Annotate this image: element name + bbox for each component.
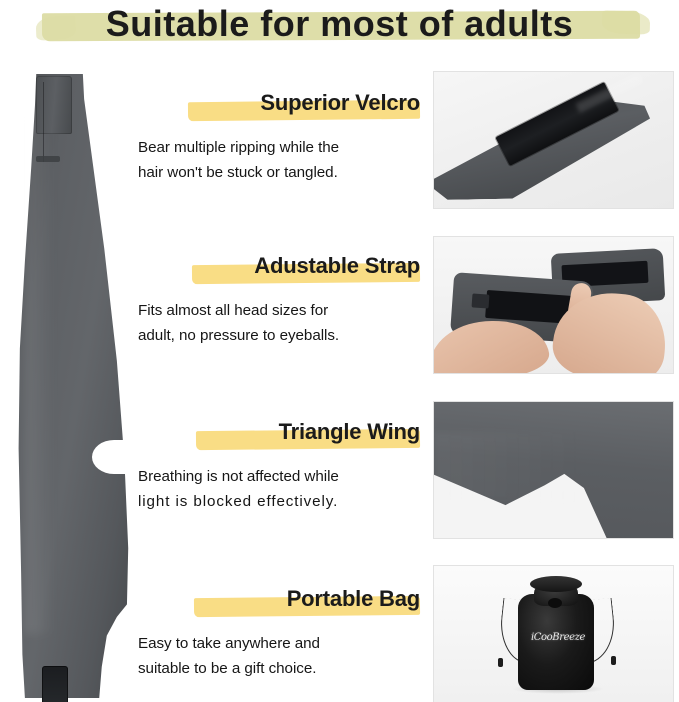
hands-adjusting-strap-image [433, 236, 674, 374]
feature-body-line: light is blocked effectively. [138, 489, 420, 514]
product-infographic-page: Suitable for most of adults Superior Vel… [0, 0, 679, 702]
page-title-banner: Suitable for most of adults [0, 0, 679, 62]
feature-body-line: adult, no pressure to eyeballs. [138, 323, 420, 348]
feature-heading-wrap: Superior Velcro [138, 88, 420, 122]
mask-strap-end-tab [36, 156, 60, 162]
feature-block-superior-velcro: Superior Velcro Bear multiple ripping wh… [138, 88, 420, 185]
bag-ruffle-top [530, 576, 582, 592]
feature-body-line: suitable to be a gift choice. [138, 656, 420, 681]
feature-heading: Portable Bag [287, 584, 420, 614]
feature-body-text: Fits almost all head sizes for adult, no… [138, 298, 420, 348]
feature-body-line: Bear multiple ripping while the [138, 135, 420, 160]
feature-block-portable-bag: Portable Bag Easy to take anywhere and s… [138, 584, 420, 681]
feature-block-adjustable-strap: Adustable Strap Fits almost all head siz… [138, 251, 420, 348]
drawstring-tip-right [611, 656, 616, 665]
mask-velcro-patch [42, 666, 68, 702]
feature-body-text: Bear multiple ripping while the hair won… [138, 135, 420, 185]
mask-strap-top [36, 76, 72, 134]
feature-body-line: Fits almost all head sizes for [138, 298, 420, 323]
feature-heading: Triangle Wing [279, 417, 420, 447]
page-title: Suitable for most of adults [0, 0, 679, 48]
feature-block-triangle-wing: Triangle Wing Breathing is not affected … [138, 417, 420, 514]
sleep-mask-full-product-image [6, 74, 132, 698]
feature-heading-wrap: Triangle Wing [138, 417, 420, 451]
velcro-strap-closeup-image [433, 71, 674, 209]
feature-heading-wrap: Portable Bag [138, 584, 420, 618]
feature-body-text: Breathing is not affected while light is… [138, 464, 420, 514]
drawstring-tip-left [498, 658, 503, 667]
feature-body-text: Easy to take anywhere and suitable to be… [138, 631, 420, 681]
mask-nose-notch [92, 440, 136, 474]
bag-cinch-knot [548, 598, 562, 608]
mask-strap-seam [43, 82, 44, 162]
triangle-wing-nose-notch-image [433, 401, 674, 539]
mask-body-shape [6, 74, 132, 698]
brand-logo: iCooBreeze [530, 632, 586, 643]
feature-heading: Adustable Strap [254, 251, 420, 281]
feature-body-line: Breathing is not affected while [138, 464, 420, 489]
feature-heading-wrap: Adustable Strap [138, 251, 420, 285]
feature-heading: Superior Velcro [260, 88, 420, 118]
strap-pull-tab [472, 293, 490, 308]
feature-body-line: hair won't be stuck or tangled. [138, 160, 420, 185]
fabric-sheen [434, 432, 674, 502]
portable-drawstring-bag-image: iCooBreeze [433, 565, 674, 702]
feature-body-line: Easy to take anywhere and [138, 631, 420, 656]
